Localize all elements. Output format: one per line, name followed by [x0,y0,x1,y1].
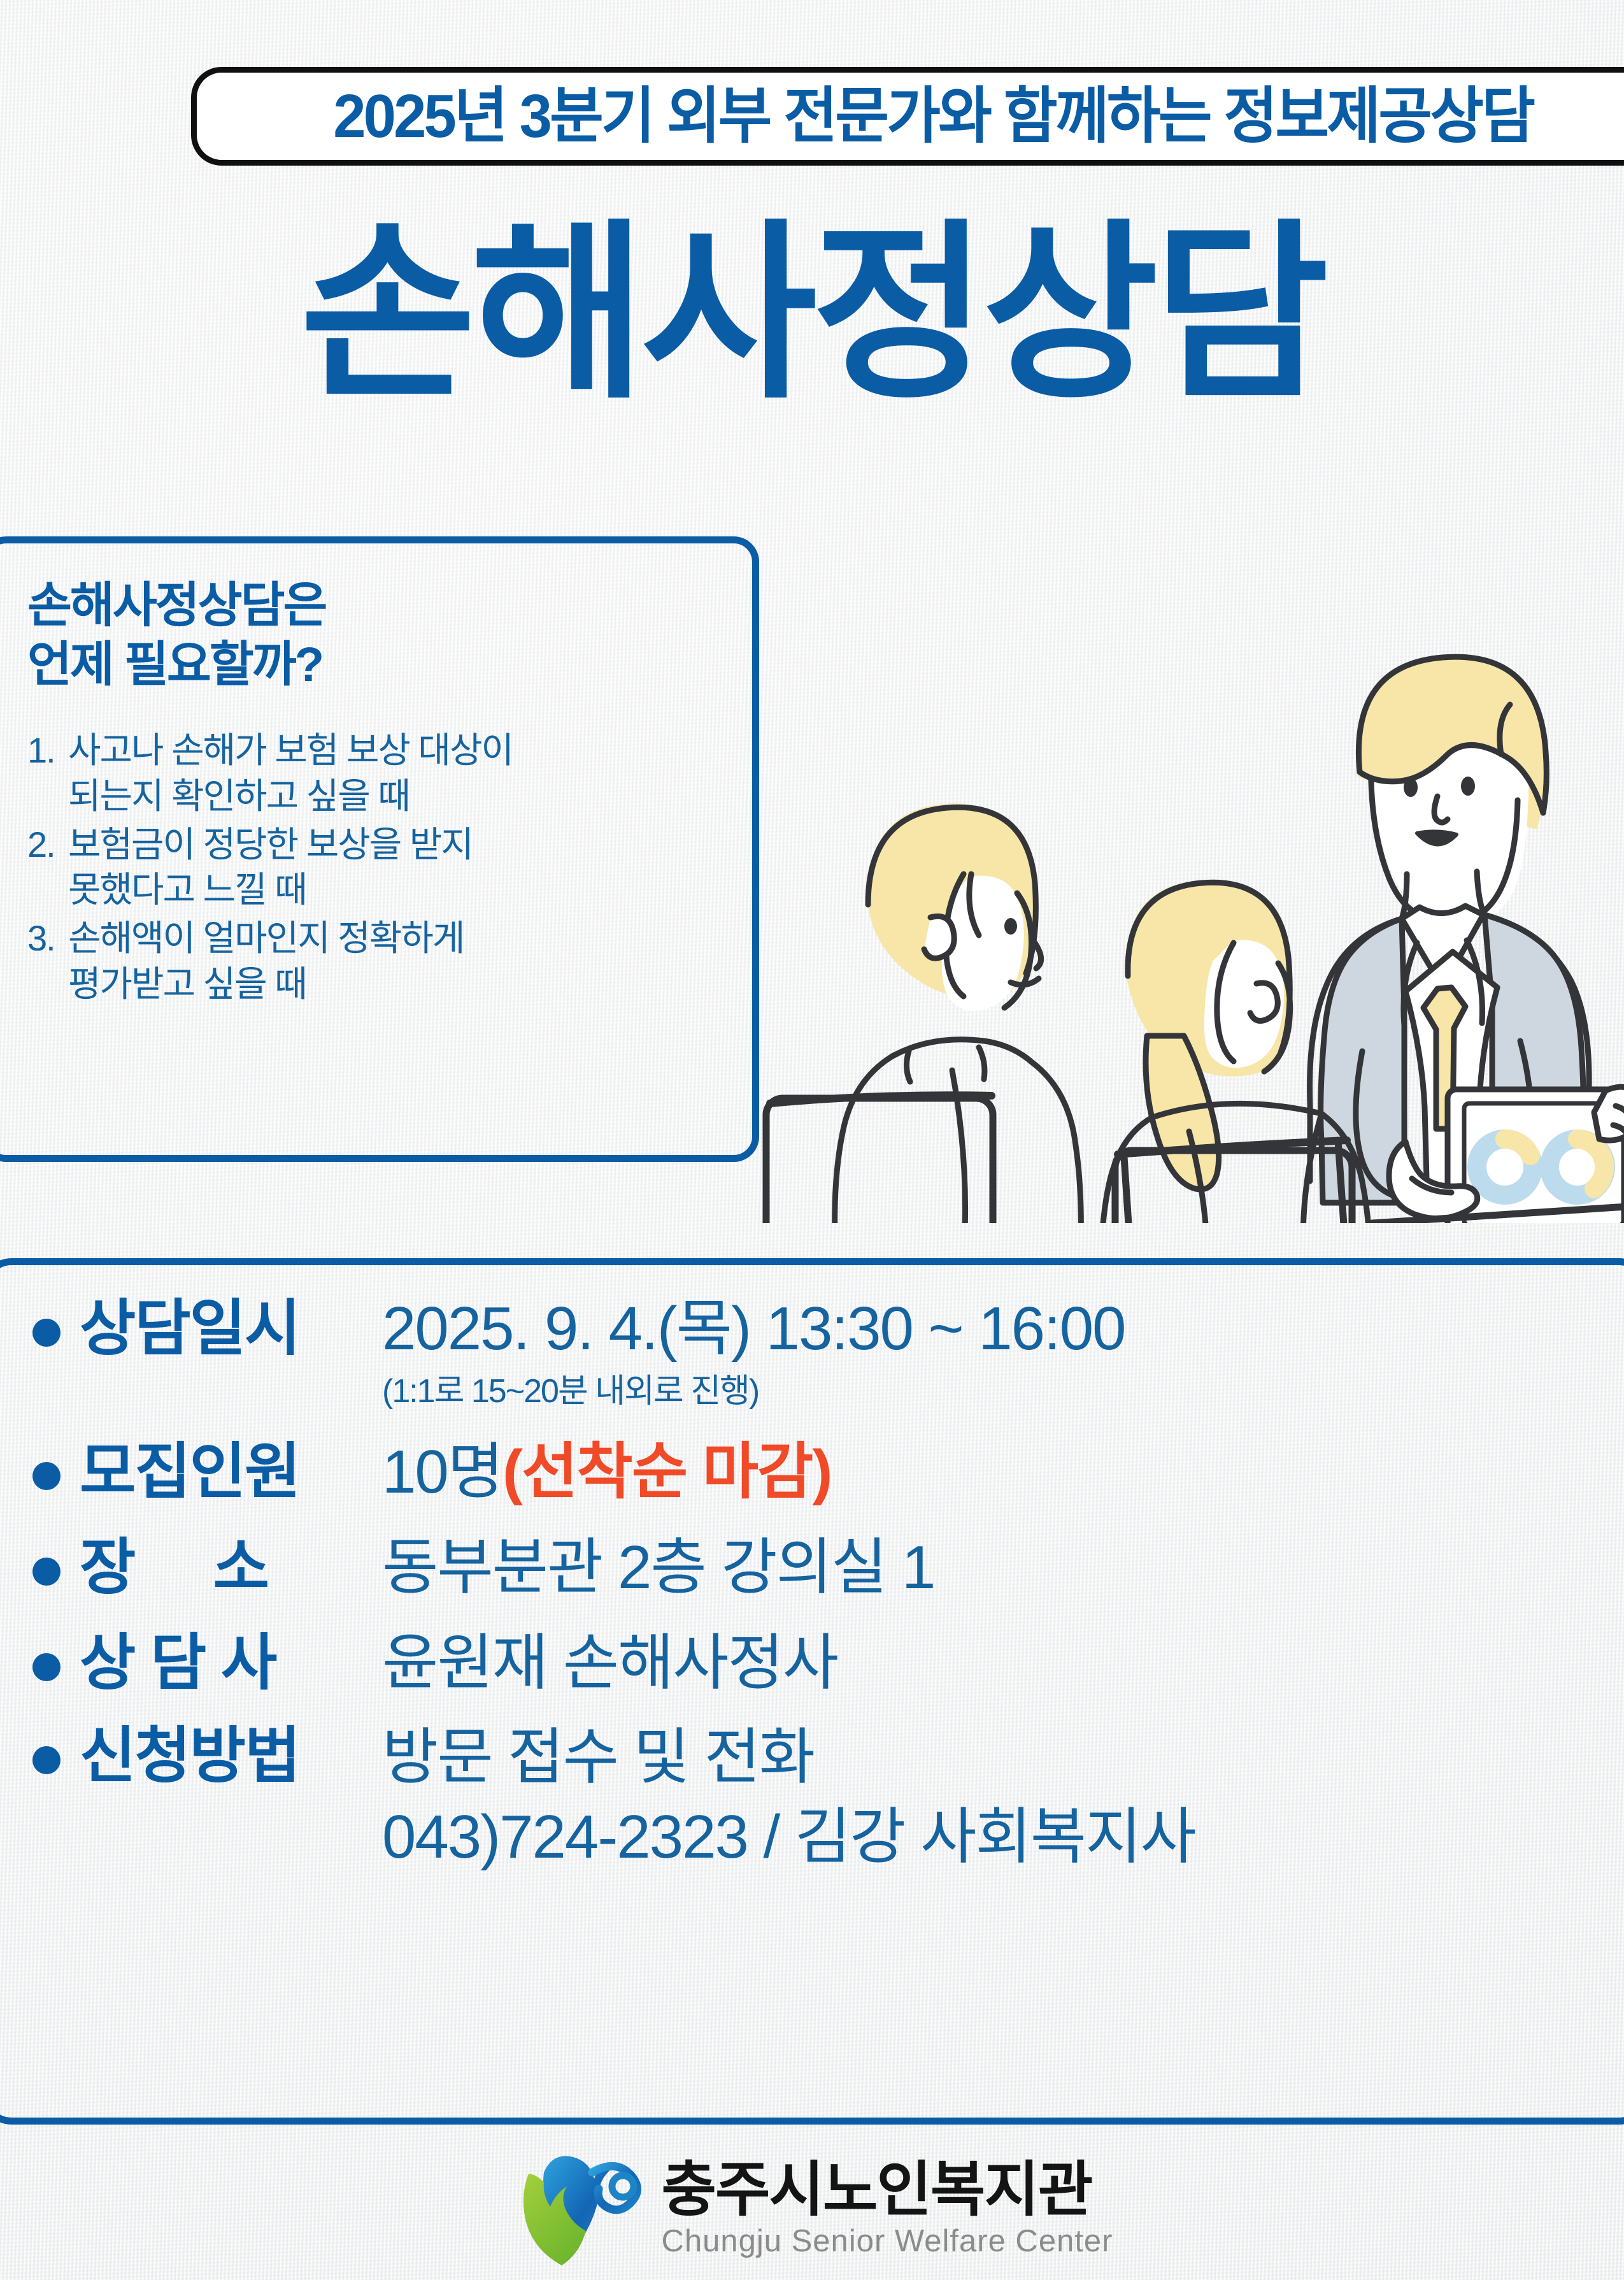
datetime-text: 2025. 9. 4.(목) 13:30 ~ 16:00 [382,1294,1125,1363]
list-item: 2. 보험금이 정당한 보상을 받지 못했다고 느낄 때 [27,822,727,913]
detail-label-datetime: 상담일시 [80,1291,382,1367]
detail-label-advisor: 상 담 사 [80,1625,382,1702]
detail-value-apply: 방문 접수 및 전화 043)724-2323 / 김강 사회복지사 [382,1718,1624,1877]
footer-logo: 충주시노인복지관 Chungju Senior Welfare Center [0,2137,1624,2280]
info-box: 손해사정상담은 언제 필요할까? 1. 사고나 손해가 보험 보상 대상이 되는… [0,536,759,1162]
list-item-number: 1. [27,728,68,819]
consultation-illustration [761,586,1624,1223]
org-name-en: Chungju Senior Welfare Center [661,2225,1113,2259]
bullet-icon [32,1746,61,1774]
details-panel: 상담일시 2025. 9. 4.(목) 13:30 ~ 16:00 (1:1로 … [0,1258,1624,2125]
detail-value-datetime: 2025. 9. 4.(목) 13:30 ~ 16:00 (1:1로 15~20… [382,1291,1624,1412]
page-title: 손해사정상담 [0,191,1624,436]
detail-label-place: 장 소 [80,1530,382,1606]
list-item: 1. 사고나 손해가 보험 보상 대상이 되는지 확인하고 싶을 때 [27,728,727,819]
list-item: 3. 손해액이 얼마인지 정확하게 평가받고 싶을 때 [27,915,727,1007]
info-box-list: 1. 사고나 손해가 보험 보상 대상이 되는지 확인하고 싶을 때 2. 보험… [27,728,727,1007]
detail-label-apply: 신청방법 [80,1718,382,1795]
bullet-icon [32,1558,61,1586]
capacity-count: 10명 [382,1438,502,1506]
org-name-kr: 충주시노인복지관 [661,2158,1113,2221]
header-ribbon-text: 2025년 3분기 외부 전문가와 함께하는 정보제공상담 [333,86,1533,147]
info-box-heading: 손해사정상담은 언제 필요할까? [27,577,727,694]
detail-row-capacity: 모집인원 10명(선착순 마감) [0,1434,1624,1510]
chungju-logo-icon [511,2148,645,2269]
bullet-icon [32,1653,61,1681]
list-item-number: 3. [27,915,68,1007]
detail-value-place: 동부분관 2층 강의실 1 [382,1530,1624,1606]
footer-text-block: 충주시노인복지관 Chungju Senior Welfare Center [661,2158,1113,2260]
capacity-highlight: (선착순 마감) [502,1438,831,1506]
detail-label-capacity: 모집인원 [80,1434,382,1510]
list-item-text: 보험금이 정당한 보상을 받지 못했다고 느낄 때 [68,822,727,913]
datetime-note: (1:1로 15~20분 내외로 진행) [382,1371,1624,1412]
poster-page: 2025년 3분기 외부 전문가와 함께하는 정보제공상담 손해사정상담 손해사… [0,0,1624,2280]
detail-row-apply: 신청방법 방문 접수 및 전화 043)724-2323 / 김강 사회복지사 [0,1718,1624,1877]
apply-method: 방문 접수 및 전화 [382,1718,1624,1798]
bullet-icon [32,1462,61,1490]
detail-row-advisor: 상 담 사 윤원재 손해사정사 [0,1625,1624,1702]
apply-contact: 043)724-2323 / 김강 사회복지사 [382,1798,1624,1877]
list-item-text: 손해액이 얼마인지 정확하게 평가받고 싶을 때 [68,915,727,1007]
list-item-number: 2. [27,822,68,913]
detail-value-capacity: 10명(선착순 마감) [382,1434,1624,1510]
bullet-icon [32,1319,61,1347]
detail-row-place: 장 소 동부분관 2층 강의실 1 [0,1530,1624,1606]
header-ribbon: 2025년 3분기 외부 전문가와 함께하는 정보제공상담 [191,67,1624,166]
detail-value-advisor: 윤원재 손해사정사 [382,1625,1624,1702]
list-item-text: 사고나 손해가 보험 보상 대상이 되는지 확인하고 싶을 때 [68,728,727,819]
detail-row-datetime: 상담일시 2025. 9. 4.(목) 13:30 ~ 16:00 (1:1로 … [0,1291,1624,1412]
